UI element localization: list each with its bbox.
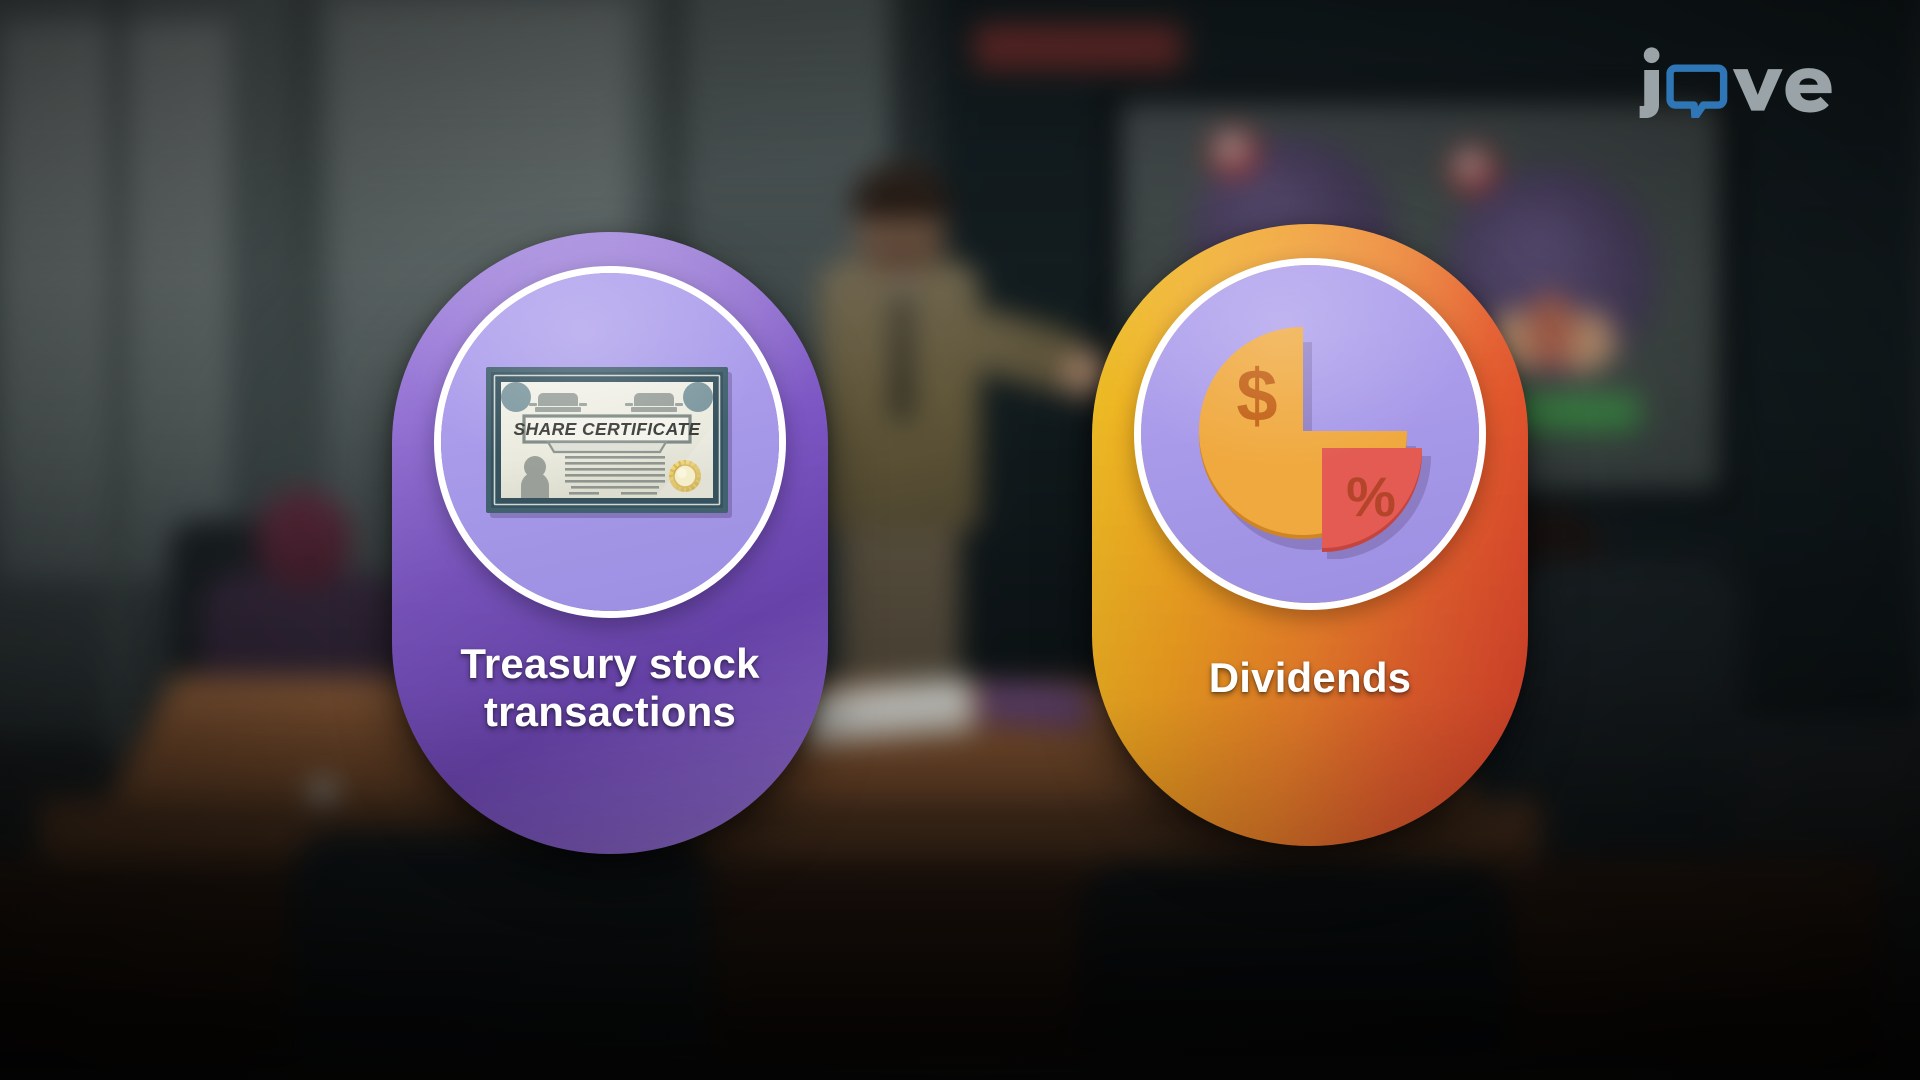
icon-disc-dividends: $ %: [1141, 265, 1479, 603]
card-treasury-stock[interactable]: SHARE CERTIFICATE: [392, 232, 828, 854]
jove-logo[interactable]: [1635, 46, 1866, 118]
foreground-shadow: [0, 860, 1880, 1060]
card-label-dividends: Dividends: [1092, 654, 1528, 702]
svg-text:SHARE CERTIFICATE: SHARE CERTIFICATE: [514, 419, 702, 439]
chair: [290, 830, 710, 1060]
card-label-treasury: Treasury stock transactions: [392, 640, 828, 736]
wall-red-banner: [974, 24, 1182, 70]
dollar-glyph: $: [1236, 354, 1277, 437]
share-certificate-icon: SHARE CERTIFICATE: [485, 364, 735, 520]
pie-chart-icon: $ %: [1185, 309, 1435, 559]
screen-marker-icon: [1208, 126, 1260, 178]
icon-ring-treasury: SHARE CERTIFICATE: [434, 266, 786, 618]
slide-canvas: SHARE CERTIFICATE: [0, 0, 1920, 1080]
wall-red-banner-label: [974, 24, 1182, 70]
table-folder: [979, 682, 1092, 730]
icon-ring-dividends: $ %: [1134, 258, 1486, 610]
screen-marker-icon: [1448, 144, 1498, 194]
card-dividends[interactable]: $ % Dividends: [1092, 224, 1528, 846]
percent-glyph: %: [1346, 465, 1396, 528]
background-scene: [0, 0, 1920, 1080]
window-mullion: [110, 0, 126, 760]
icon-disc-treasury: SHARE CERTIFICATE: [441, 273, 779, 611]
seated-attendee-head: [256, 490, 352, 590]
chair: [1080, 860, 1510, 1060]
